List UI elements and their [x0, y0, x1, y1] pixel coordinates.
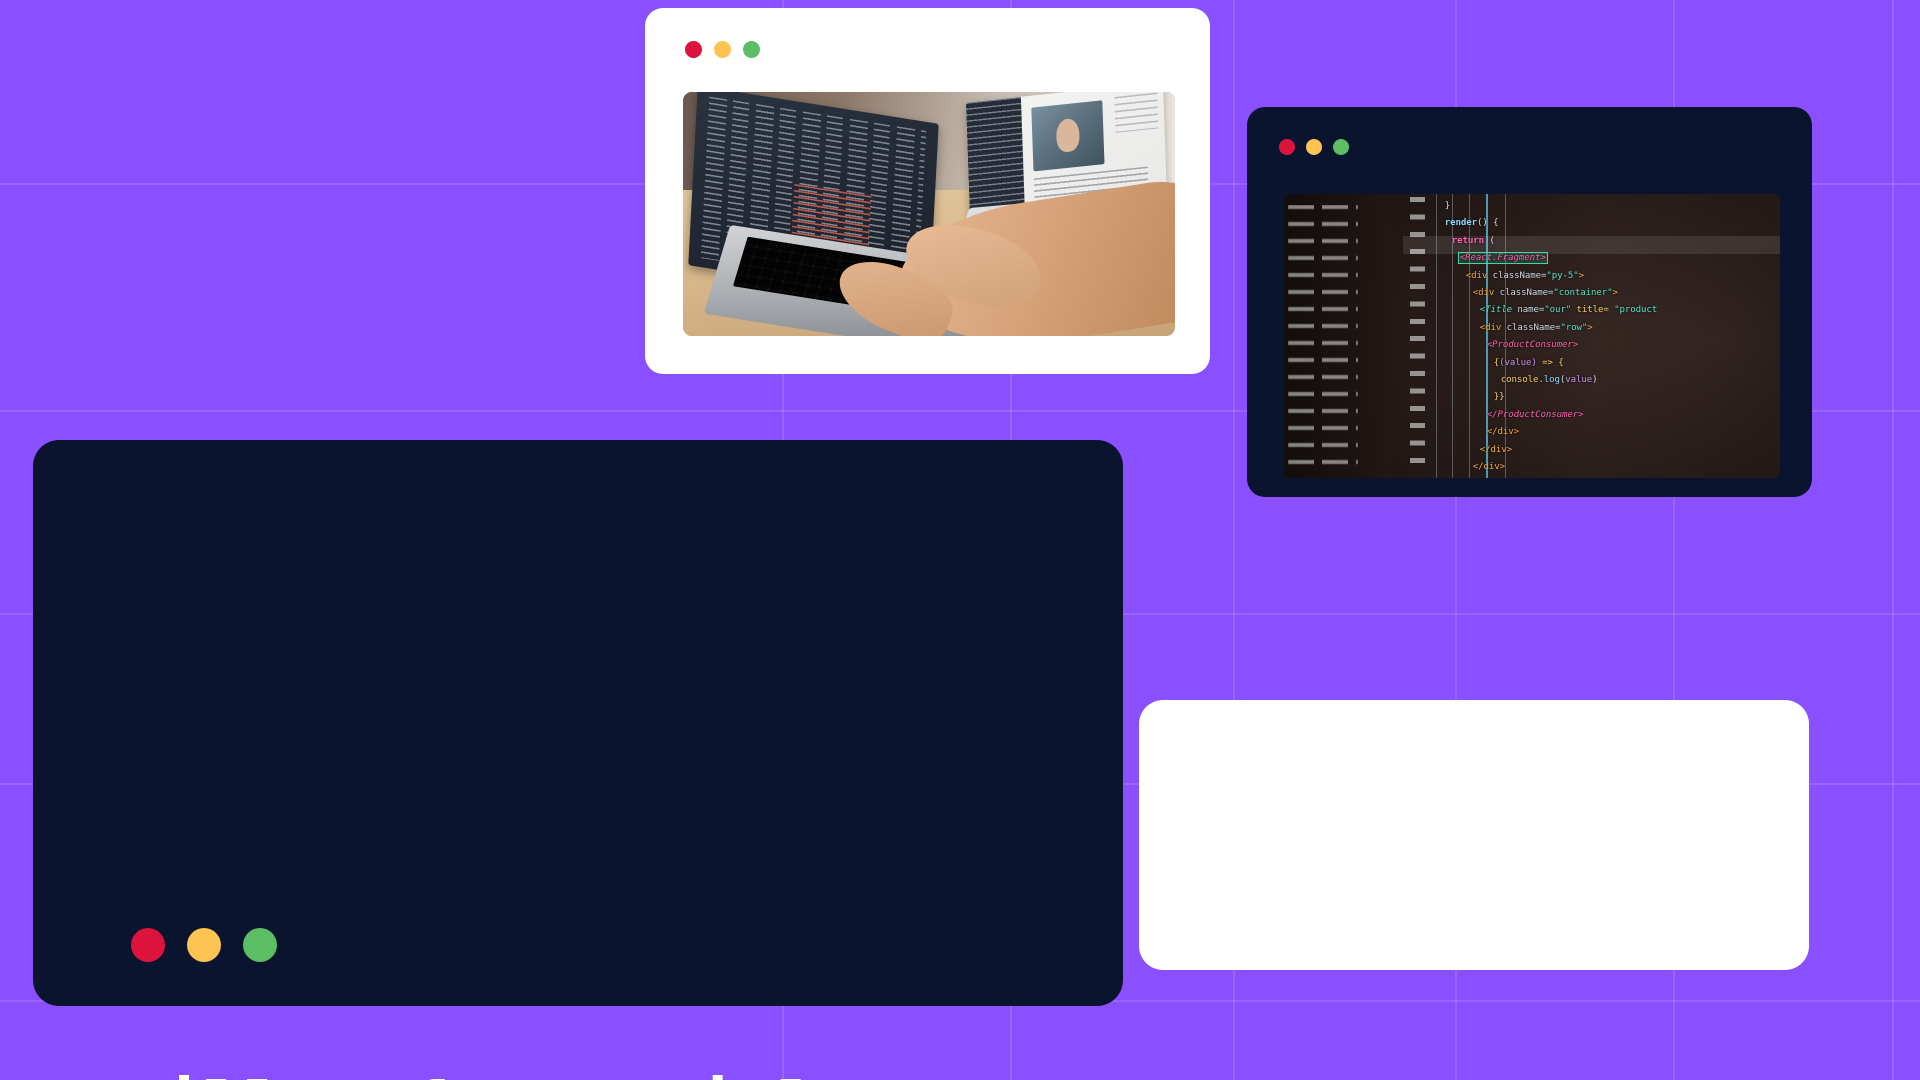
editor-file-tree	[1288, 205, 1358, 466]
code-token: "row"	[1560, 323, 1587, 333]
code-token: <ProductConsumer>	[1487, 340, 1578, 350]
code-token: >	[1613, 288, 1618, 298]
code-line: </React.Fragment>	[1438, 477, 1780, 479]
code-token: "our"	[1544, 305, 1571, 315]
code-token: (value)	[1499, 358, 1537, 368]
maximize-dot-icon[interactable]	[743, 41, 760, 58]
code-line: return (	[1438, 233, 1780, 250]
code-token: => {	[1537, 358, 1564, 368]
minimize-dot-icon[interactable]	[187, 928, 221, 962]
editor-file-sidebar	[1284, 194, 1393, 478]
laptop-coding-photo	[683, 92, 1175, 336]
photo-scene	[683, 92, 1175, 336]
code-token: "product	[1609, 305, 1657, 315]
presentation-slide: }render() {return (<React.Fragment><div …	[0, 0, 1920, 1080]
title-window-card: Bills of Material (BOM) VS Configurator …	[33, 440, 1123, 1006]
close-dot-icon[interactable]	[131, 928, 165, 962]
code-token: </ProductConsumer>	[1487, 410, 1584, 420]
code-token: value	[1565, 375, 1592, 385]
code-line: <ProductConsumer>	[1438, 337, 1780, 354]
photo-window-card	[645, 8, 1210, 374]
minimize-dot-icon[interactable]	[1306, 139, 1322, 155]
code-token: }}	[1494, 392, 1505, 402]
code-token: render	[1445, 218, 1477, 228]
code-token: (	[1484, 236, 1495, 246]
maximize-dot-icon[interactable]	[1333, 139, 1349, 155]
code-token: className=	[1493, 271, 1547, 281]
code-line: {(value) => {	[1438, 355, 1780, 372]
window-traffic-lights	[685, 41, 760, 58]
presenter-window-card: Presented By Nathan Kellert	[1139, 700, 1809, 970]
window-traffic-lights	[131, 928, 277, 962]
code-editor-screenshot: }render() {return (<React.Fragment><div …	[1284, 194, 1780, 478]
code-token: </div>	[1487, 427, 1519, 437]
code-token: name=	[1517, 305, 1544, 315]
code-token: <Title	[1480, 305, 1518, 315]
code-token: log	[1544, 375, 1560, 385]
code-token: title=	[1571, 305, 1609, 315]
grid-line-vertical	[1892, 0, 1894, 1080]
code-token: "py-5"	[1546, 271, 1578, 281]
browser-right-rail	[1114, 92, 1159, 133]
code-token: className=	[1500, 288, 1554, 298]
page-title: Bills of Material (BOM) VS Configurator …	[121, 1066, 1061, 1080]
code-editor-window-card: }render() {return (<React.Fragment><div …	[1247, 107, 1812, 497]
close-dot-icon[interactable]	[685, 41, 702, 58]
code-line: <Title name="our" title= "product	[1438, 302, 1780, 319]
editor-code-text: }render() {return (<React.Fragment><div …	[1438, 198, 1780, 478]
code-line: </div>	[1438, 459, 1780, 476]
code-token: >	[1587, 323, 1592, 333]
minimize-dot-icon[interactable]	[714, 41, 731, 58]
code-line: <React.Fragment>	[1438, 250, 1780, 267]
code-token: () {	[1477, 218, 1499, 228]
code-token: className=	[1507, 323, 1561, 333]
code-token: <div	[1473, 288, 1500, 298]
code-line: <div className="py-5">	[1438, 268, 1780, 285]
code-token: </div>	[1480, 445, 1512, 455]
code-token: </div>	[1473, 462, 1505, 472]
code-token: return	[1452, 236, 1484, 246]
code-line: </ProductConsumer>	[1438, 407, 1780, 424]
code-token: <React.Fragment>	[1459, 253, 1547, 263]
code-token: >	[1579, 271, 1584, 281]
code-token: console.	[1501, 375, 1544, 385]
code-token: <div	[1466, 271, 1493, 281]
code-line: }}	[1438, 389, 1780, 406]
close-dot-icon[interactable]	[1279, 139, 1295, 155]
code-token: "container"	[1553, 288, 1612, 298]
browser-thumbnail	[1032, 100, 1105, 171]
code-line: <div className="row">	[1438, 320, 1780, 337]
code-line: }	[1438, 198, 1780, 215]
code-token: <div	[1480, 323, 1507, 333]
code-token: }	[1445, 201, 1450, 211]
code-line: render() {	[1438, 215, 1780, 232]
code-line: </div>	[1438, 424, 1780, 441]
window-traffic-lights	[1279, 139, 1349, 155]
code-line: </div>	[1438, 442, 1780, 459]
code-line: <div className="container">	[1438, 285, 1780, 302]
code-token: )	[1592, 375, 1597, 385]
code-line: console.log(value)	[1438, 372, 1780, 389]
maximize-dot-icon[interactable]	[243, 928, 277, 962]
